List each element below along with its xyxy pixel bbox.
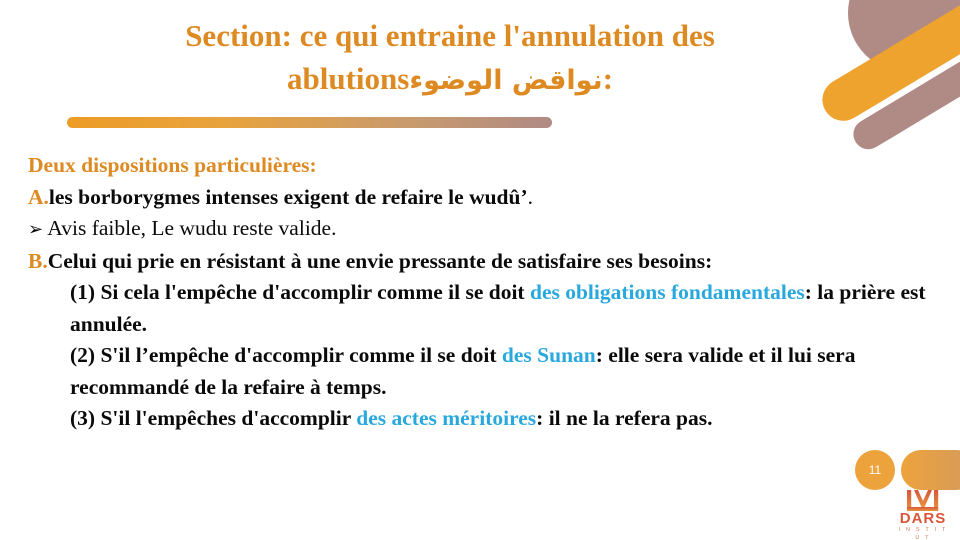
item-b-marker: B. — [28, 249, 48, 273]
sub-item-1: (1) Si cela l'empêche d'accomplir comme … — [28, 277, 933, 340]
slide-title-latin: ablutions — [287, 61, 409, 96]
arrow-bullet-icon: ➢ — [28, 219, 43, 240]
slide-title: Section: ce qui entraine l'annulation de… — [60, 14, 840, 102]
sub-item-1-highlight: des obligations fondamentales — [530, 280, 805, 304]
item-a-marker: A. — [28, 185, 49, 209]
body-heading: Deux dispositions particulières: — [28, 150, 933, 182]
page-number-badge: 11 — [855, 450, 895, 490]
item-a-text: les borborygmes intenses exigent de refa… — [49, 185, 528, 209]
sub-item-3-after: : il ne la refera pas. — [536, 406, 712, 430]
logo-wordmark: DARS — [894, 511, 952, 526]
sub-item-3-highlight: des actes méritoires — [356, 406, 536, 430]
bullet-avis-faible-text: Avis faible, Le wudu reste valide. — [47, 216, 336, 240]
sub-item-3: (3) S'il l'empêches d'accomplir des acte… — [28, 403, 933, 435]
sub-item-2-marker: (2) — [70, 343, 95, 367]
bullet-avis-faible: ➢ Avis faible, Le wudu reste valide. — [28, 213, 933, 246]
sub-item-3-before: S'il l'empêches d'accomplir — [100, 406, 356, 430]
sub-item-2: (2) S'il l’empêche d'accomplir comme il … — [28, 340, 933, 403]
item-b: B.Celui qui prie en résistant à une envi… — [28, 246, 933, 278]
logo-subtitle: I N S T I T U T — [894, 526, 952, 540]
sub-item-2-before: S'il l’empêche d'accomplir comme il se d… — [100, 343, 501, 367]
sub-item-3-marker: (3) — [70, 406, 95, 430]
slide-canvas: Section: ce qui entraine l'annulation de… — [0, 0, 960, 540]
slide-title-line-1: Section: ce qui entraine l'annulation de… — [60, 14, 840, 57]
item-a-tail: . — [528, 185, 533, 209]
item-a: A.les borborygmes intenses exigent de re… — [28, 182, 933, 214]
title-divider — [67, 117, 552, 128]
sub-item-2-highlight: des Sunan — [502, 343, 596, 367]
dars-institut-logo: DARS I N S T I T U T — [894, 488, 952, 536]
slide-body: Deux dispositions particulières: A.les b… — [28, 150, 933, 435]
sub-item-1-marker: (1) — [70, 280, 95, 304]
item-b-text: Celui qui prie en résistant à une envie … — [48, 249, 713, 273]
logo-mark-icon — [894, 488, 952, 512]
decorative-blob-mauve — [848, 0, 960, 72]
slide-title-arabic: نواقض الوضوء — [409, 65, 602, 96]
decorative-bar-mauve — [848, 31, 960, 155]
slide-title-line-2: ablutionsنواقض الوضوء: — [60, 57, 840, 102]
decorative-pill-bottom-right — [901, 450, 960, 490]
sub-item-1-before: Si cela l'empêche d'accomplir comme il s… — [100, 280, 530, 304]
slide-title-colon: : — [603, 61, 613, 96]
